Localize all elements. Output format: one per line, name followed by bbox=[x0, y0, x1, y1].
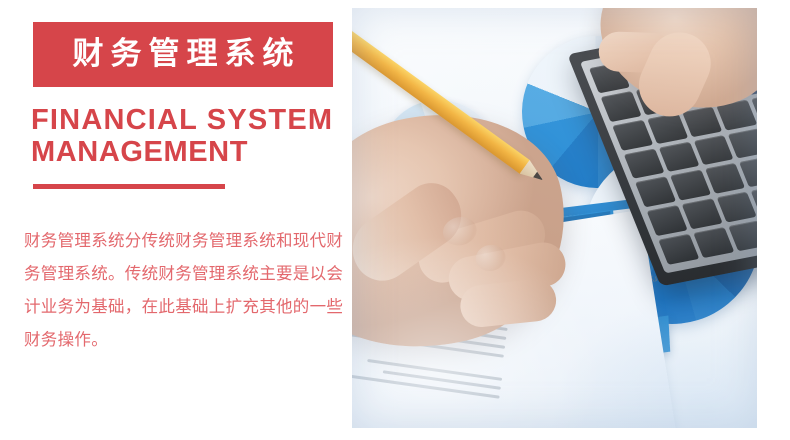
description-paragraph: 财务管理系统分传统财务管理系统和现代财务管理系统。传统财务管理系统主要是以会计业… bbox=[24, 224, 344, 356]
chinese-title: 财务管理系统 bbox=[66, 39, 301, 70]
title-divider-rule bbox=[33, 184, 225, 189]
text-panel: 财务管理系统 FINANCIAL SYSTEM MANAGEMENT 财务管理系… bbox=[0, 0, 352, 440]
promo-banner: 财务管理系统 FINANCIAL SYSTEM MANAGEMENT 财务管理系… bbox=[0, 0, 790, 440]
english-title: FINANCIAL SYSTEM MANAGEMENT bbox=[31, 104, 341, 168]
english-title-line1: FINANCIAL SYSTEM bbox=[31, 104, 341, 136]
chinese-title-band: 财务管理系统 bbox=[33, 22, 333, 87]
english-title-line2: MANAGEMENT bbox=[31, 136, 341, 168]
hero-photo: Summary Report Summary of Sales bbox=[352, 8, 757, 428]
